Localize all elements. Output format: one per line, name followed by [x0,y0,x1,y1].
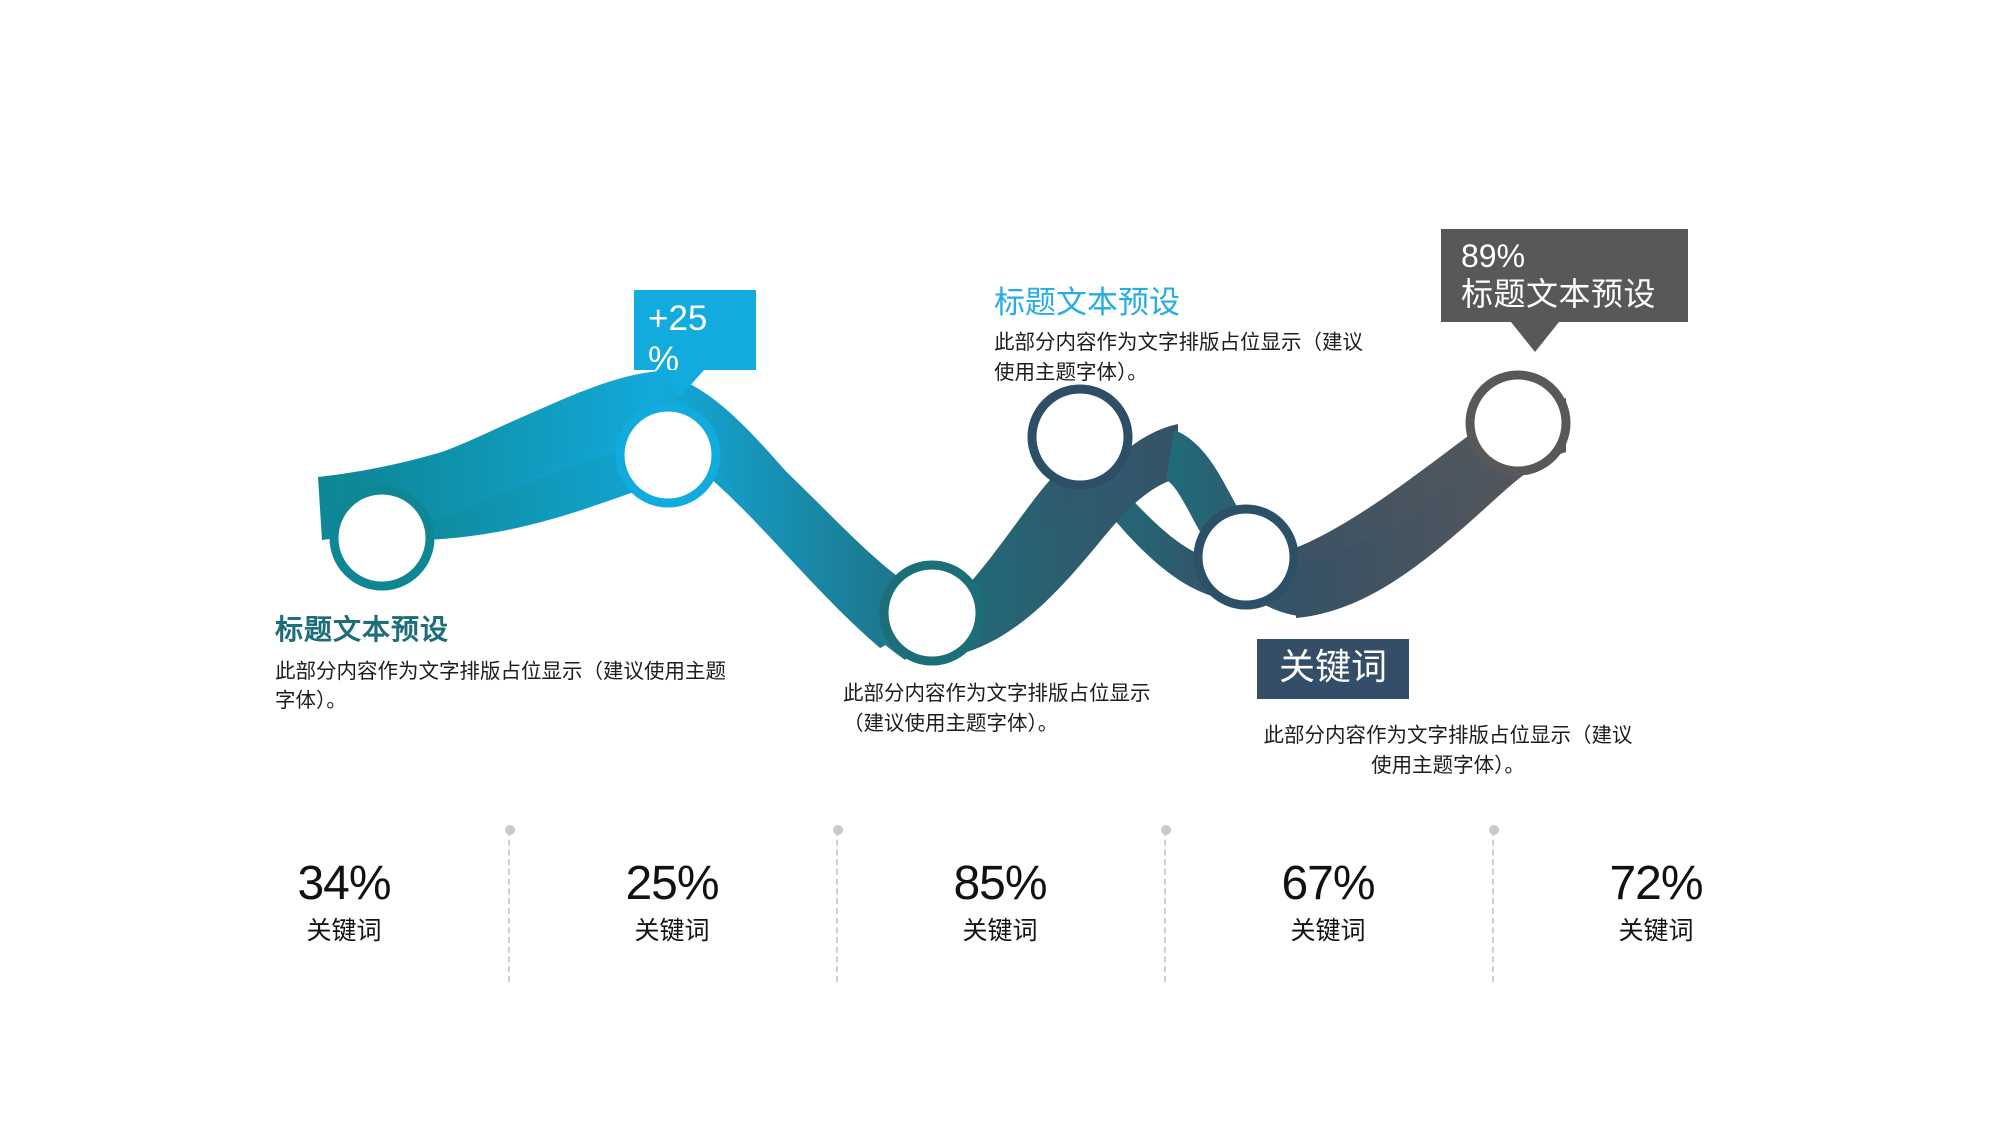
block-4-description: 此部分内容作为文字排版占位显示（建议使用主题字体）。 [1263,721,1633,780]
node-circle-1[interactable] [334,490,430,586]
node-circle-6[interactable] [1470,375,1566,471]
stat-label-5: 关键词 [1492,916,1820,946]
stat-divider-1 [508,830,512,982]
infographic-stage: +25 % 89% 标题文本预设 标题文本预设 此部分内容作为文字排版占位显示（… [0,0,2000,1125]
block-5-description: 此部分内容作为文字排版占位显示（建议使用主题字体）。 [994,328,1374,387]
stat-item-2[interactable]: 25% 关键词 [508,830,836,1010]
callout-89-body: 89% 标题文本预设 [1441,229,1688,322]
stat-label-1: 关键词 [180,916,508,946]
text-block-4: 关键词 此部分内容作为文字排版占位显示（建议使用主题字体）。 [1257,639,1657,780]
stat-divider-4 [1492,830,1496,982]
stat-item-1[interactable]: 34% 关键词 [180,830,508,1010]
node-circle-2[interactable] [620,407,716,503]
stat-label-4: 关键词 [1164,916,1492,946]
node-circle-5[interactable] [1198,509,1294,605]
block-1-title: 标题文本预设 [275,613,745,647]
callout-plus25-tail-icon [656,370,704,397]
text-block-1: 标题文本预设 此部分内容作为文字排版占位显示（建议使用主题字体）。 [275,613,745,716]
stat-divider-3 [1164,830,1168,982]
callout-plus25[interactable]: +25 % [634,290,756,370]
stat-value-1: 34% [180,858,508,910]
callout-89-title: 标题文本预设 [1461,276,1688,314]
stat-value-5: 72% [1492,858,1820,910]
stat-item-4[interactable]: 67% 关键词 [1164,830,1492,1010]
block-1-description: 此部分内容作为文字排版占位显示（建议使用主题字体）。 [275,657,745,716]
text-block-3: 此部分内容作为文字排版占位显示（建议使用主题字体）。 [843,679,1173,738]
callout-plus25-body: +25 % [634,290,756,370]
stat-value-4: 67% [1164,858,1492,910]
callout-89-tail-icon [1511,322,1559,352]
stat-divider-2 [836,830,840,982]
stat-label-3: 关键词 [836,916,1164,946]
stats-row: 34% 关键词 25% 关键词 85% 关键词 67% 关键词 72% 关键词 [180,830,1820,1010]
text-block-5: 标题文本预设 此部分内容作为文字排版占位显示（建议使用主题字体）。 [994,284,1374,388]
stat-item-5[interactable]: 72% 关键词 [1492,830,1820,1010]
keyword-badge[interactable]: 关键词 [1257,639,1409,699]
node-circle-3[interactable] [884,565,980,661]
callout-89-percent[interactable]: 89% 标题文本预设 [1441,229,1688,322]
block-3-description: 此部分内容作为文字排版占位显示（建议使用主题字体）。 [843,679,1173,738]
node-circle-4[interactable] [1032,389,1128,485]
stat-item-3[interactable]: 85% 关键词 [836,830,1164,1010]
stat-value-2: 25% [508,858,836,910]
callout-plus25-value: +25 [648,298,746,339]
block-5-title: 标题文本预设 [994,284,1374,321]
stat-label-2: 关键词 [508,916,836,946]
callout-89-value: 89% [1461,238,1688,276]
stat-value-3: 85% [836,858,1164,910]
